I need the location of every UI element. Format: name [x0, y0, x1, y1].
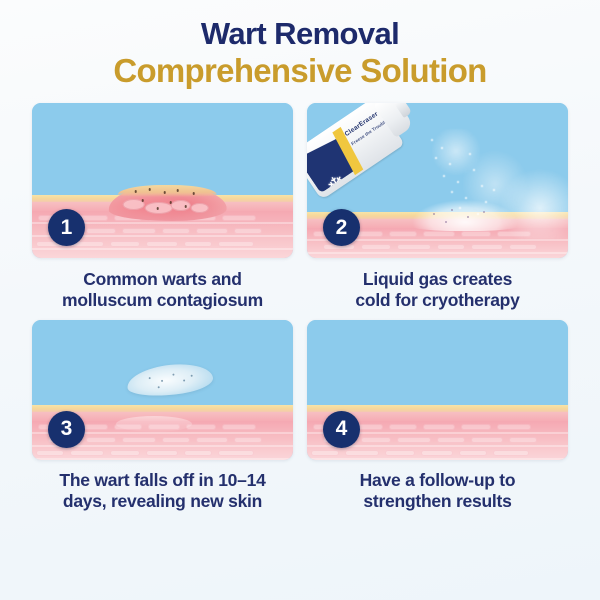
illustration-panel-3: 3 — [32, 320, 293, 460]
step-card-2: ❄ ClearEraser Bump Freeze the Trouble Aw… — [307, 103, 568, 311]
step-caption-1-line2: molluscum contagiosum — [62, 290, 263, 311]
step-number-badge-1: 1 — [48, 209, 85, 246]
illustration-panel-2: ❄ ClearEraser Bump Freeze the Trouble Aw… — [307, 103, 568, 258]
page-title: Wart Removal — [0, 18, 600, 51]
step-caption-3: The wart falls off in 10–14 days, reveal… — [59, 470, 265, 512]
step-number-badge-2: 2 — [323, 209, 360, 246]
illustration-panel-1: 1 — [32, 103, 293, 258]
illustration-panel-4: 4 — [307, 320, 568, 460]
healing-skin-mark — [116, 416, 192, 432]
page-header: Wart Removal Comprehensive Solution — [0, 0, 600, 89]
step-caption-4: Have a follow-up to strengthen results — [360, 470, 516, 512]
step-caption-2: Liquid gas creates cold for cryotherapy — [355, 269, 519, 311]
step-caption-4-line2: strengthen results — [360, 491, 516, 512]
step-caption-1: Common warts and molluscum contagiosum — [62, 269, 263, 311]
step-card-3: 3 The wart falls off in 10–14 days, reve… — [32, 320, 293, 512]
step-caption-2-line2: cold for cryotherapy — [355, 290, 519, 311]
step-caption-2-line1: Liquid gas creates — [355, 269, 519, 290]
step-caption-4-line1: Have a follow-up to — [360, 470, 516, 491]
epidermis-layer — [32, 405, 293, 412]
step-caption-1-line1: Common warts and — [62, 269, 263, 290]
step-number-badge-3: 3 — [48, 411, 85, 448]
step-number-badge-4: 4 — [323, 411, 360, 448]
wart-surface-crust — [118, 185, 217, 197]
steps-grid: 1 Common warts and molluscum contagiosum — [0, 103, 600, 512]
step-card-4: 4 Have a follow-up to strengthen results — [307, 320, 568, 512]
step-caption-3-line1: The wart falls off in 10–14 — [59, 470, 265, 491]
step-card-1: 1 Common warts and molluscum contagiosum — [32, 103, 293, 311]
step-caption-3-line2: days, revealing new skin — [59, 491, 265, 512]
sky-background — [32, 103, 293, 198]
epidermis-layer — [307, 405, 568, 412]
sky-background — [307, 320, 568, 408]
page-subtitle: Comprehensive Solution — [0, 53, 600, 89]
wart-lesion — [108, 185, 226, 221]
